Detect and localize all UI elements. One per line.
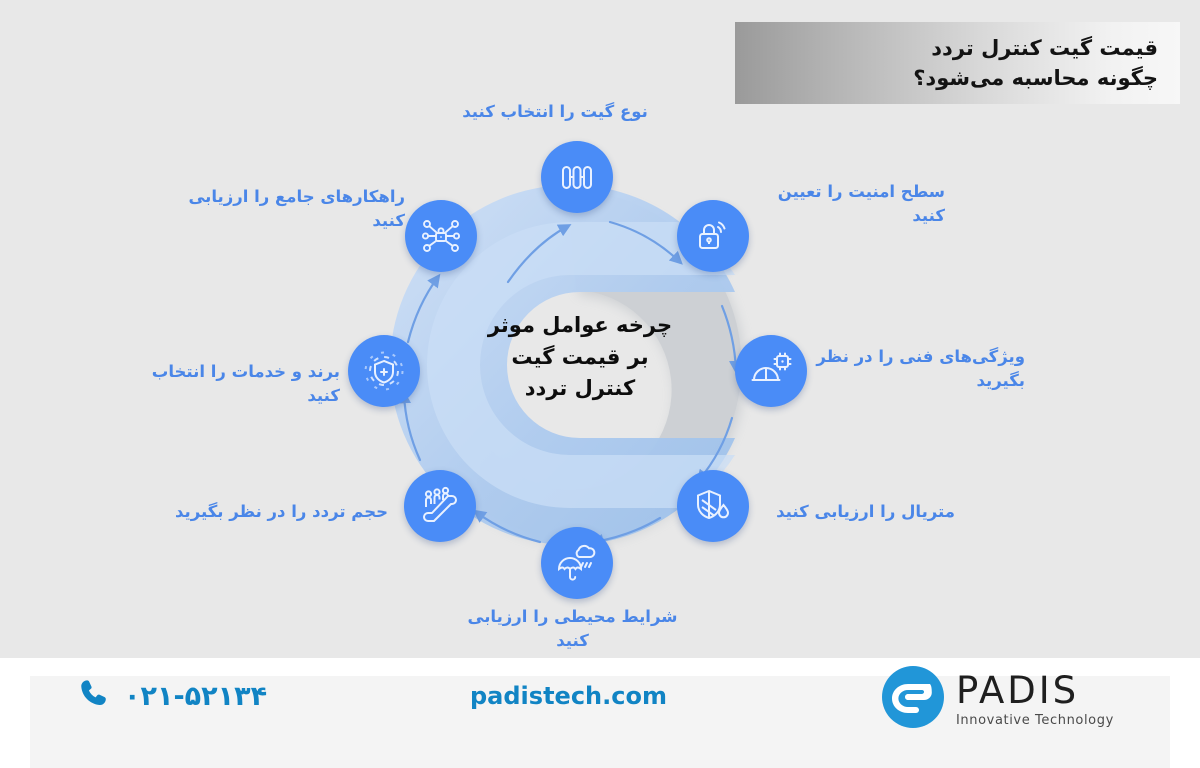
title-line-1: قیمت گیت کنترل تردد xyxy=(913,33,1158,63)
infographic-canvas: قیمت گیت کنترل تردد چگونه محاسبه می‌شود؟ xyxy=(0,0,1200,768)
label-line: ویژگی‌های فنی را در نظر xyxy=(810,345,1025,369)
step-icon-gate-type[interactable] xyxy=(541,141,613,213)
title-banner: قیمت گیت کنترل تردد چگونه محاسبه می‌شود؟ xyxy=(735,22,1180,104)
padis-e-logo-icon xyxy=(880,664,946,734)
step-label-technical-specs: ویژگی‌های فنی را در نظر بگیرید xyxy=(810,345,1025,393)
step-icon-brand-services[interactable] xyxy=(348,335,420,407)
website-link[interactable]: padistech.com xyxy=(470,682,667,710)
step-icon-full-solutions[interactable] xyxy=(405,200,477,272)
step-icon-material[interactable] xyxy=(677,470,749,542)
logo-tagline: Innovative Technology xyxy=(956,714,1114,727)
label-line: حجم تردد را در نظر بگیرید xyxy=(160,500,388,524)
padis-logo[interactable]: PADIS Innovative Technology xyxy=(880,666,1114,732)
lock-signal-icon xyxy=(693,216,733,256)
label-line: کنید xyxy=(460,629,685,653)
label-line: نوع گیت را انتخاب کنید xyxy=(430,100,680,124)
escalator-people-icon xyxy=(419,485,461,527)
step-label-environment: شرایط محیطی را ارزیابی کنید xyxy=(460,605,685,653)
turnstile-gate-icon xyxy=(557,157,597,197)
padis-wordmark: PADIS Innovative Technology xyxy=(956,672,1114,727)
network-lock-icon xyxy=(420,215,462,257)
helmet-chip-icon xyxy=(750,350,792,392)
shield-plus-icon xyxy=(362,349,406,393)
title-text: قیمت گیت کنترل تردد چگونه محاسبه می‌شود؟ xyxy=(913,33,1158,94)
step-icon-traffic-volume[interactable] xyxy=(404,470,476,542)
shield-droplet-icon xyxy=(693,486,733,526)
step-label-material: متریال را ارزیابی کنید xyxy=(755,500,955,524)
step-icon-security-level[interactable] xyxy=(677,200,749,272)
label-line: متریال را ارزیابی کنید xyxy=(755,500,955,524)
step-icon-environment[interactable] xyxy=(541,527,613,599)
label-line: برند و خدمات را انتخاب xyxy=(125,360,340,384)
label-line: شرایط محیطی را ارزیابی xyxy=(460,605,685,629)
phone-icon xyxy=(78,677,112,715)
label-line: کنید xyxy=(745,204,945,228)
phone-number: ۰۲۱-۵۲۱۳۴ xyxy=(124,681,267,712)
label-line: سطح امنیت را تعیین xyxy=(745,180,945,204)
label-line: راهکارهای جامع را ارزیابی xyxy=(165,185,405,209)
logo-name: PADIS xyxy=(956,672,1114,709)
label-line: کنید xyxy=(165,209,405,233)
step-label-gate-type: نوع گیت را انتخاب کنید xyxy=(430,100,680,124)
step-label-security-level: سطح امنیت را تعیین کنید xyxy=(745,180,945,228)
label-line: کنید xyxy=(125,384,340,408)
step-label-traffic-volume: حجم تردد را در نظر بگیرید xyxy=(160,500,388,524)
phone-contact[interactable]: ۰۲۱-۵۲۱۳۴ xyxy=(78,672,267,720)
step-icon-technical-specs[interactable] xyxy=(735,335,807,407)
step-label-full-solutions: راهکارهای جامع را ارزیابی کنید xyxy=(165,185,405,233)
label-line: بگیرید xyxy=(810,369,1025,393)
umbrella-rain-icon xyxy=(556,542,598,584)
step-label-brand-services: برند و خدمات را انتخاب کنید xyxy=(125,360,340,408)
title-line-2: چگونه محاسبه می‌شود؟ xyxy=(913,63,1158,93)
